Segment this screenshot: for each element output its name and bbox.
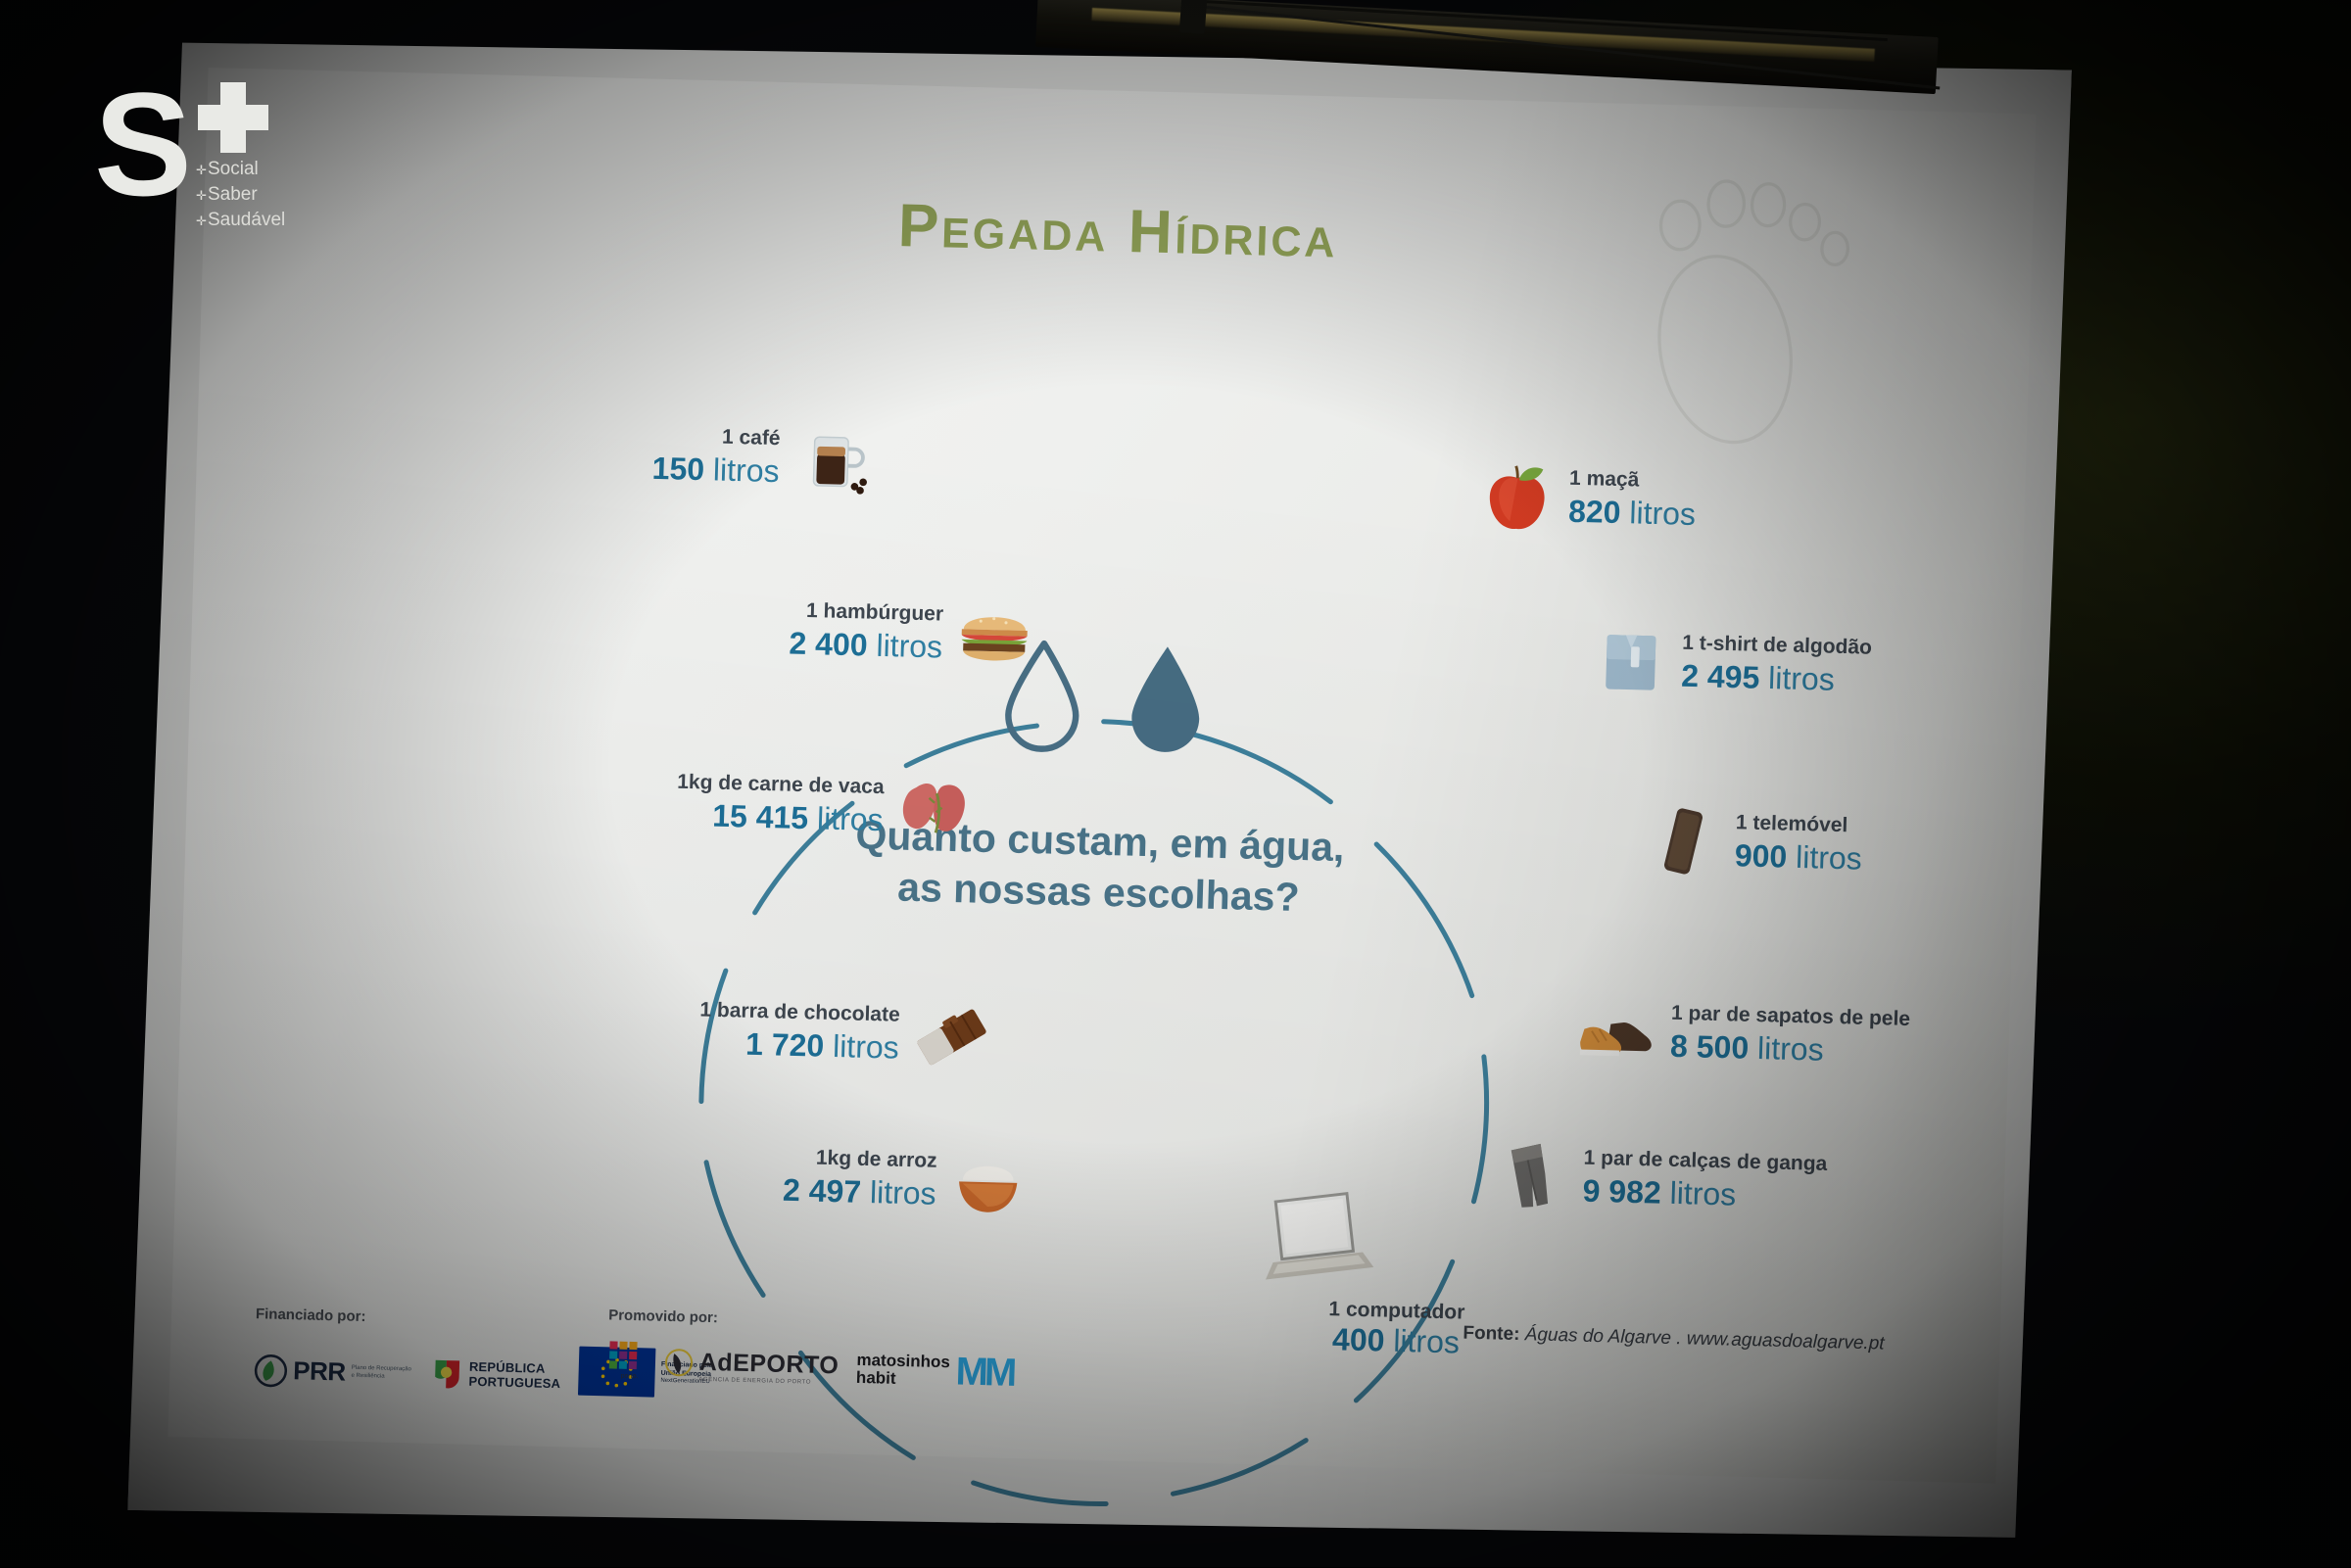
coffee-cup-icon	[789, 420, 875, 499]
item-maca-unit: litros	[1629, 495, 1697, 532]
phone-icon	[1640, 801, 1726, 879]
item-tshirt-text: 1 t-shirt de algodão 2 495 litros	[1681, 631, 1873, 699]
portugal-shield-icon	[431, 1356, 463, 1393]
watermark-line-1: ✛Social	[196, 157, 285, 182]
apple-icon	[1473, 457, 1559, 536]
item-maca-text: 1 maçã 820 litros	[1568, 466, 1698, 533]
item-carne-name: 1kg de carne de vaca	[677, 770, 885, 801]
watermark-line-3: ✛Saudável	[196, 208, 285, 233]
item-cafe-text: 1 café 150 litros	[651, 423, 781, 490]
tshirt-icon	[1587, 622, 1673, 700]
item-hamburguer-unit: litros	[876, 627, 943, 664]
watermark-tagline: ✛Social ✛Saber ✛Saudável	[196, 157, 285, 233]
item-chocolate-unit: litros	[833, 1028, 900, 1066]
adeporto-text: AdEPORTO	[698, 1349, 839, 1381]
shoes-icon	[1575, 992, 1661, 1070]
porto-squares-icon: porto.	[606, 1339, 647, 1381]
item-carne-unit: litros	[817, 800, 885, 837]
item-chocolate: 1 barra de chocolate 1 720 litros	[698, 991, 995, 1075]
prr-logo: PRR Plano de Recuperação e Resiliência	[254, 1354, 414, 1391]
svg-text:porto.: porto.	[620, 1373, 638, 1380]
chocolate-icon	[908, 997, 994, 1075]
item-carne: 1kg de carne de vaca 15 415 litros	[676, 763, 980, 847]
item-maca: 1 maçã 820 litros	[1473, 457, 1697, 540]
item-tshirt-value: 2 495	[1681, 657, 1760, 694]
republica-portuguesa-logo: REPÚBLICA PORTUGUESA	[431, 1356, 561, 1395]
photo-of-projected-slide: Pegada Hídrica	[0, 0, 2351, 1567]
item-tshirt: 1 t-shirt de algodão 2 495 litros	[1587, 622, 1873, 705]
plus-icon	[198, 82, 268, 153]
item-carne-value: 15 415	[712, 797, 809, 834]
item-arroz-value: 2 497	[783, 1171, 862, 1209]
water-drop-filled-icon	[1123, 640, 1210, 757]
item-cafe-value: 150	[651, 450, 704, 486]
promoted-block: Promovido por: porto.	[606, 1307, 1015, 1391]
item-cafe: 1 café 150 litros	[651, 416, 875, 499]
item-calcas-unit: litros	[1669, 1174, 1737, 1212]
item-cafe-name: 1 café	[652, 423, 781, 452]
watermark-line-2: ✛Saber	[196, 182, 285, 208]
adeporto-logo: AdEPORTO AGÊNCIA DE ENERGIA DO PORTO	[663, 1348, 839, 1387]
republica-line2: PORTUGUESA	[468, 1375, 560, 1392]
item-hamburguer: 1 hambúrguer 2 400 litros	[789, 592, 1038, 674]
item-calcas: 1 par de calças de ganga 9 982 litros	[1488, 1137, 1828, 1222]
item-chocolate-name: 1 barra de chocolate	[699, 998, 900, 1028]
item-telemovel-value: 900	[1734, 837, 1787, 874]
projection-screen: Pegada Hídrica	[0, 0, 2351, 1567]
item-arroz-text: 1kg de arroz 2 497 litros	[783, 1145, 937, 1212]
item-arroz-unit: litros	[870, 1174, 937, 1212]
item-calcas-text: 1 par de calças de ganga 9 982 litros	[1582, 1146, 1828, 1215]
adeporto-mark-icon	[663, 1348, 694, 1382]
matosinhos-habit-logo: matosinhos habit MM	[856, 1352, 1014, 1391]
star-icon: ✛	[196, 183, 208, 208]
item-arroz-name: 1kg de arroz	[784, 1145, 937, 1174]
watermark-logo: S ✛Social ✛Saber ✛Saudável	[94, 86, 280, 204]
star-icon: ✛	[196, 209, 208, 233]
item-telemovel-text: 1 telemóvel 900 litros	[1734, 811, 1863, 878]
item-chocolate-text: 1 barra de chocolate 1 720 litros	[698, 998, 900, 1067]
footprint-watermark-icon	[1573, 151, 1906, 482]
prr-subtext: Plano de Recuperação e Resiliência	[351, 1365, 413, 1382]
prr-mark-icon	[254, 1354, 288, 1388]
prr-text: PRR	[293, 1356, 346, 1388]
item-telemovel-unit: litros	[1796, 838, 1863, 876]
star-icon: ✛	[196, 158, 208, 182]
slide-canvas: Pegada Hídrica	[168, 68, 2037, 1484]
screen-hook	[1179, 0, 1207, 34]
mm-mark-icon: MM	[955, 1356, 1014, 1389]
rice-bowl-icon	[945, 1143, 1032, 1221]
jeans-icon	[1488, 1137, 1574, 1215]
item-tshirt-unit: litros	[1768, 660, 1836, 697]
item-maca-value: 820	[1568, 493, 1621, 529]
item-hamburguer-text: 1 hambúrguer 2 400 litros	[789, 598, 943, 666]
item-arroz: 1kg de arroz 2 497 litros	[782, 1138, 1032, 1220]
item-telemovel: 1 telemóvel 900 litros	[1640, 801, 1863, 883]
porto-logo: porto.	[606, 1339, 647, 1381]
item-sapatos: 1 par de sapatos de pele 8 500 litros	[1575, 992, 1910, 1077]
laptop-icon	[1248, 1182, 1378, 1301]
item-sapatos-value: 8 500	[1670, 1027, 1750, 1065]
beef-icon	[892, 769, 979, 847]
habit-text: habit	[856, 1369, 950, 1389]
plus-notch-icon	[233, 107, 254, 127]
item-carne-text: 1kg de carne de vaca 15 415 litros	[676, 770, 885, 838]
item-calcas-value: 9 982	[1582, 1172, 1661, 1210]
item-maca-name: 1 maçã	[1569, 466, 1698, 496]
item-sapatos-text: 1 par de sapatos de pele 8 500 litros	[1670, 1001, 1911, 1070]
item-telemovel-name: 1 telemóvel	[1735, 811, 1863, 840]
item-chocolate-value: 1 720	[745, 1025, 825, 1063]
burger-icon	[951, 595, 1037, 674]
item-sapatos-unit: litros	[1757, 1030, 1825, 1068]
item-hamburguer-name: 1 hambúrguer	[790, 598, 943, 628]
item-hamburguer-value: 2 400	[789, 625, 868, 662]
watermark-letter-s: S	[94, 71, 188, 217]
item-cafe-unit: litros	[712, 451, 780, 489]
